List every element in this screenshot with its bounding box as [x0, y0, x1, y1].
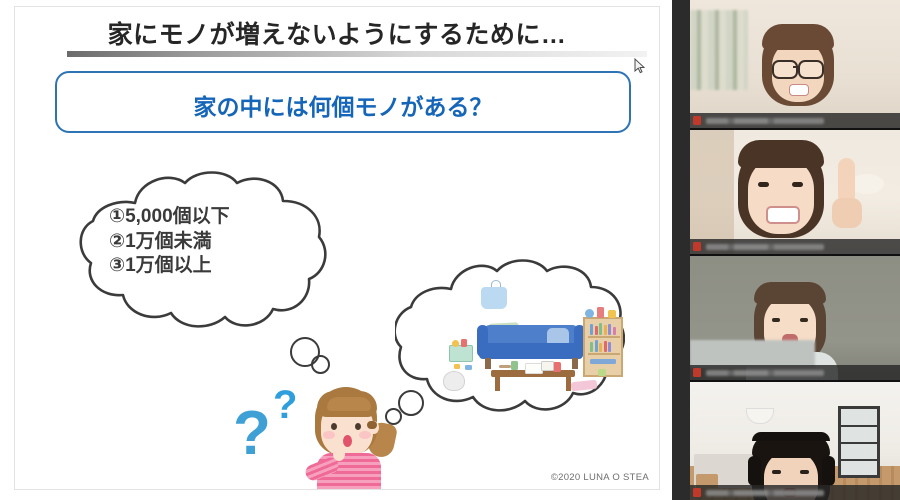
- shelf-top-item-1: [585, 309, 594, 318]
- participant-tile-1[interactable]: [690, 0, 900, 128]
- title-divider-rule: [67, 51, 647, 57]
- headset-band: [752, 432, 830, 441]
- muted-microphone-icon: [693, 488, 701, 497]
- table-item-pen: [499, 365, 511, 368]
- question-mark-small-icon: ?: [273, 385, 297, 425]
- laptop: [690, 340, 815, 368]
- background-pendant-light: [746, 408, 774, 424]
- eye-left: [772, 318, 780, 322]
- participant-tile-2[interactable]: [690, 130, 900, 254]
- eyeglasses-bridge: [793, 66, 800, 68]
- participant-name-bar-1: [690, 113, 900, 128]
- participant-video-column[interactable]: [690, 0, 900, 500]
- presentation-slide: 家にモノが増えないようにするために… 家の中には何個モノがある？ ①5,000個…: [14, 6, 660, 490]
- hair-bangs: [754, 282, 826, 304]
- option-1: ①5,000個以下: [109, 205, 324, 230]
- toy-3: [454, 364, 460, 369]
- headset-earcup-left: [748, 456, 761, 486]
- hair-tie: [367, 421, 377, 429]
- toy-box: [449, 345, 473, 362]
- mouth-smiling: [766, 206, 800, 224]
- eye-left: [772, 470, 781, 474]
- eye-left: [331, 423, 337, 430]
- cluttered-room-illustration: [435, 285, 615, 395]
- slide-title: 家にモノが増えないようにするために…: [15, 15, 659, 51]
- storage-bag: [443, 371, 465, 391]
- hanging-shirt-icon: [481, 287, 507, 309]
- option-2: ②1万個未満: [109, 230, 324, 255]
- eyeglasses-right-lens: [798, 60, 824, 79]
- table-item-cup: [553, 362, 561, 372]
- thinking-woman-illustration: [297, 385, 407, 490]
- hair-highlight: [327, 397, 371, 411]
- mouth: [343, 435, 352, 447]
- hand-on-chin: [333, 447, 345, 461]
- eye-right: [800, 318, 808, 322]
- shelf-top-item-2: [597, 307, 604, 318]
- background-bookshelf: [690, 10, 748, 90]
- cloud-trail-bubble-left-small: [311, 355, 330, 374]
- floor-rug: [571, 380, 598, 392]
- toy-2: [461, 339, 467, 347]
- table-item-book: [541, 361, 554, 371]
- mouth: [789, 84, 809, 96]
- thought-cloud-options: ①5,000個以下 ②1万個未満 ③1万個以上: [73, 167, 333, 337]
- question-box-text: 家の中には何個モノがある？: [57, 88, 629, 122]
- copyright-text: ©2020 LUNA O STEA: [551, 472, 649, 483]
- headset-earcup-right: [822, 456, 835, 486]
- table-item-plant: [511, 361, 518, 370]
- muted-microphone-icon: [693, 116, 701, 125]
- participant-name-blurred: [706, 490, 824, 496]
- participant-name-blurred: [706, 370, 824, 376]
- hair-bangs: [738, 140, 824, 168]
- background-lamp: [850, 174, 884, 194]
- background-wall: [690, 130, 734, 254]
- sofa-seat: [479, 343, 583, 359]
- eye-left: [758, 182, 769, 187]
- hair-bangs: [762, 24, 834, 50]
- cheek-right: [359, 431, 371, 439]
- eyeglasses-left-lens: [772, 60, 798, 79]
- muted-microphone-icon: [693, 368, 701, 377]
- question-mark-large-icon: ?: [233, 403, 271, 465]
- shelf-top-item-3: [608, 310, 616, 318]
- shared-slide-area[interactable]: 家にモノが増えないようにするために… 家の中には何個モノがある？ ①5,000個…: [0, 0, 672, 500]
- participant-name-bar-2: [690, 239, 900, 254]
- participant-name-bar-3: [690, 365, 900, 380]
- mouse-pointer-icon: [634, 58, 646, 74]
- coffee-table-leg-left: [495, 377, 500, 391]
- eye-right: [792, 182, 803, 187]
- eye-right: [800, 470, 809, 474]
- participant-name-bar-4: [690, 485, 900, 500]
- eye-right: [355, 423, 361, 430]
- bookshelf-icon: [583, 317, 623, 377]
- screen-share-meeting-window: 家にモノが増えないようにするために… 家の中には何個モノがある？ ①5,000個…: [0, 0, 900, 500]
- hand: [832, 198, 862, 228]
- sofa-leg-right: [572, 358, 578, 369]
- muted-microphone-icon: [693, 242, 701, 251]
- option-3: ③1万個以上: [109, 254, 324, 279]
- floor-item-green: [598, 369, 606, 376]
- toy-1: [452, 340, 459, 347]
- question-box: 家の中には何個モノがある？: [55, 71, 631, 133]
- toy-4: [465, 365, 472, 370]
- answer-options-list: ①5,000個以下 ②1万個未満 ③1万個以上: [109, 205, 324, 279]
- background-glass-door: [838, 406, 880, 478]
- panel-divider: [672, 0, 690, 500]
- sofa-leg-left: [485, 358, 491, 369]
- participant-name-blurred: [706, 118, 824, 124]
- cheek-left: [323, 431, 335, 439]
- participant-tile-4[interactable]: [690, 382, 900, 500]
- participant-tile-3[interactable]: [690, 256, 900, 380]
- participant-name-blurred: [706, 244, 824, 250]
